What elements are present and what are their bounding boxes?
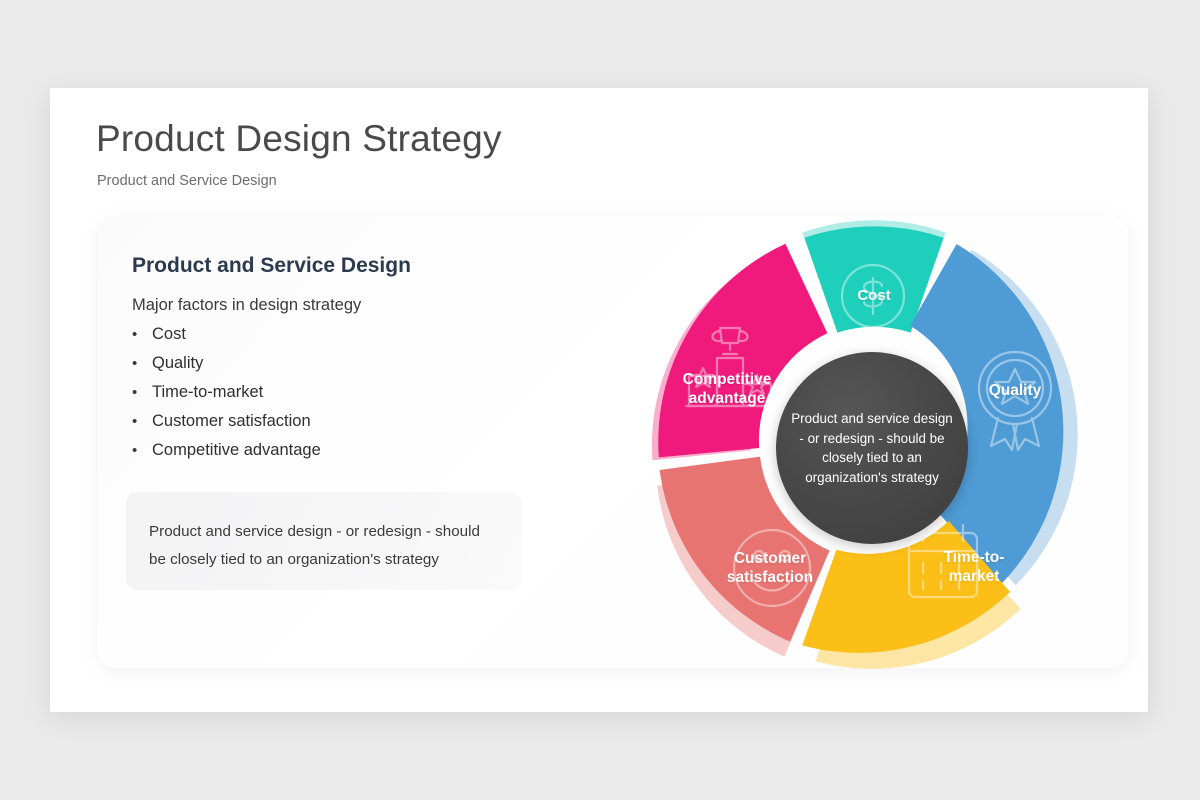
- panel-lead-text: Major factors in design strategy: [132, 296, 361, 315]
- bullet-icon: •: [132, 327, 152, 342]
- list-item-label: Time-to-market: [152, 383, 263, 402]
- bullet-icon: •: [132, 385, 152, 400]
- list-item: • Customer satisfaction: [132, 412, 321, 441]
- wheel-hub: Product and service design - or redesign…: [776, 352, 968, 544]
- page-title: Product Design Strategy: [96, 118, 502, 160]
- list-item-label: Cost: [152, 325, 186, 344]
- list-item-label: Quality: [152, 354, 203, 373]
- list-item: • Quality: [132, 354, 321, 383]
- slide-stage: Product Design Strategy Product and Serv…: [0, 0, 1200, 800]
- list-item: • Cost: [132, 325, 321, 354]
- quote-text: Product and service design - or redesign…: [149, 518, 501, 573]
- bullet-icon: •: [132, 356, 152, 371]
- factors-list: • Cost • Quality • Time-to-market • Cust…: [132, 325, 321, 470]
- list-item: • Competitive advantage: [132, 441, 321, 470]
- list-item-label: Customer satisfaction: [152, 412, 311, 431]
- bullet-icon: •: [132, 414, 152, 429]
- wheel-hub-text: Product and service design - or redesign…: [788, 409, 956, 487]
- list-item: • Time-to-market: [132, 383, 321, 412]
- panel-heading: Product and Service Design: [132, 254, 411, 278]
- bullet-icon: •: [132, 443, 152, 458]
- page-subtitle: Product and Service Design: [97, 173, 277, 189]
- list-item-label: Competitive advantage: [152, 441, 321, 460]
